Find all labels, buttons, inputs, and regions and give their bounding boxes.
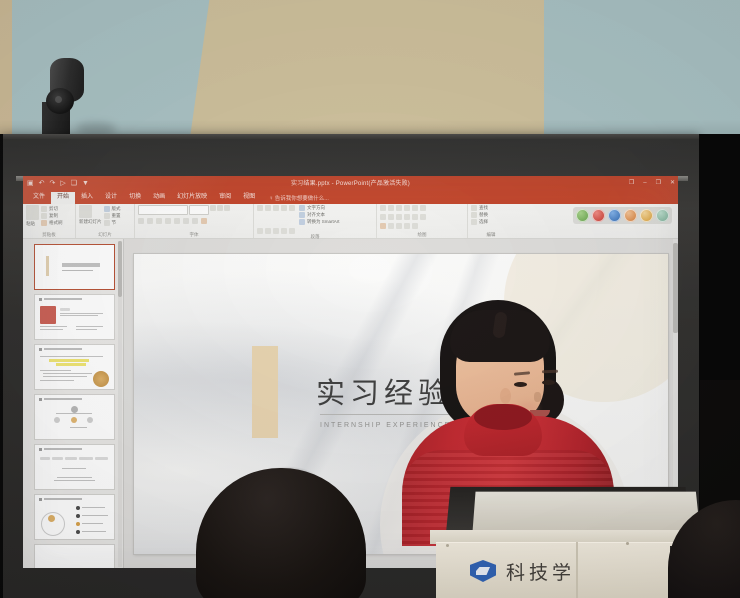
reset-icon[interactable] (104, 213, 110, 219)
addin-toolbar[interactable] (573, 207, 672, 224)
table-row[interactable]: 6 (34, 494, 115, 540)
lectern-screw-right (626, 542, 629, 545)
palette-icon[interactable] (640, 209, 653, 222)
webcam (42, 58, 98, 140)
ribbon-group-editing[interactable]: 查找 替换 选择 编辑 (468, 204, 514, 238)
lectern-sign-text: 科技学 (506, 558, 575, 585)
shape-freeform-icon[interactable] (388, 214, 394, 220)
shape-triangle-icon[interactable] (404, 205, 410, 211)
undo-circle-icon[interactable] (592, 209, 605, 222)
arrange-button[interactable] (404, 223, 410, 229)
accent-bar (252, 346, 278, 438)
strikethrough-button[interactable] (165, 218, 171, 224)
ribbon-tabstrip[interactable]: 文件 开始 插入 设计 切换 动画 幻灯片放映 审阅 视图 ☿ 告诉我你想要做什… (23, 191, 678, 204)
document-title: 实习结果.pptx - PowerPoint(产品激活失败) (23, 178, 678, 187)
tab-animations[interactable]: 动画 (147, 192, 171, 204)
font-family-combo[interactable] (138, 205, 188, 215)
quick-styles-button[interactable] (412, 223, 418, 229)
lectern-panel-seam (576, 542, 578, 598)
thumb-art-org-chart (35, 395, 114, 439)
shape-line-icon[interactable] (388, 205, 394, 211)
align-right-button[interactable] (273, 228, 279, 234)
lectern-screw-left (446, 544, 449, 547)
presenter-eye-left (514, 382, 527, 387)
shape-outline-button[interactable] (388, 223, 394, 229)
slide-thumbnail-pane[interactable]: 1 2 (23, 239, 124, 568)
font-color-button[interactable] (201, 218, 207, 224)
bezel-highlight (2, 134, 699, 139)
group-label-slides: 幻灯片 (79, 232, 131, 238)
copy-icon[interactable] (41, 213, 47, 219)
cut-icon[interactable] (41, 206, 47, 212)
shadow-button[interactable] (174, 218, 180, 224)
ribbon-group-paragraph[interactable]: 文字方向 对齐文本 转换为 SmartArt 段落 (254, 204, 377, 238)
document-copy-icon[interactable] (656, 209, 669, 222)
close-button[interactable]: ✕ (670, 178, 675, 188)
photo-scene: ▣ ↶ ↷ ▷ ❑ ▼ 实习结果.pptx - PowerPoint(产品激活失… (0, 0, 740, 598)
bezel-left-edge (0, 134, 3, 598)
ribbon[interactable]: 粘贴 剪切 复制 格式刷 剪贴板 新建幻灯片 (23, 204, 678, 239)
shape-fill-button[interactable] (380, 223, 386, 229)
shape-more-icon[interactable] (420, 205, 426, 211)
table-row[interactable]: 3 (34, 344, 115, 390)
shape-curve-icon[interactable] (380, 214, 386, 220)
character-spacing-button[interactable] (183, 218, 189, 224)
replace-icon[interactable] (471, 212, 477, 218)
increase-font-size-button[interactable] (210, 205, 216, 211)
tab-slideshow[interactable]: 幻灯片放映 (171, 192, 213, 204)
table-row[interactable]: 2 (34, 294, 115, 340)
camera-lens-icon (46, 88, 74, 114)
table-row[interactable]: 7 (34, 544, 115, 568)
table-row[interactable]: 4 (34, 394, 115, 440)
thumb-art-blank (35, 545, 114, 568)
find-icon[interactable] (471, 205, 477, 211)
tab-home[interactable]: 开始 (51, 192, 75, 204)
powerpoint-titlebar: ▣ ↶ ↷ ▷ ❑ ▼ 实习结果.pptx - PowerPoint(产品激活失… (23, 176, 678, 191)
shape-arrow-icon[interactable] (396, 205, 402, 211)
select-icon[interactable] (471, 219, 477, 225)
change-case-button[interactable] (192, 218, 198, 224)
laptop-screen (472, 492, 700, 535)
tab-insert[interactable]: 插入 (75, 192, 99, 204)
convert-to-smartart-icon[interactable] (299, 219, 305, 225)
bold-button[interactable] (138, 218, 144, 224)
align-center-button[interactable] (265, 228, 271, 234)
window-controls[interactable]: ❐ – ❒ ✕ (629, 178, 675, 188)
thumb-art-title (35, 245, 114, 289)
group-label-editing: 编辑 (471, 232, 511, 238)
align-left-button[interactable] (257, 228, 263, 234)
presenter-nose (534, 392, 541, 402)
presenter-brow-right (542, 370, 558, 374)
numbering-button[interactable] (265, 205, 271, 211)
group-label-drawing: 绘图 (380, 232, 464, 238)
layout-icon[interactable] (104, 206, 110, 212)
presenter-ear (500, 388, 511, 404)
tab-review[interactable]: 审阅 (213, 192, 237, 204)
slide-pane-scrollbar[interactable] (118, 241, 122, 567)
tab-design[interactable]: 设计 (99, 192, 123, 204)
thumb-art-bullets (35, 495, 114, 539)
new-slide-icon[interactable] (79, 205, 92, 218)
line-spacing-button[interactable] (289, 205, 295, 211)
presenter-collar-inner (474, 404, 532, 430)
thumb-art-highlight (35, 345, 114, 389)
ribbon-display-options-icon[interactable]: ❐ (629, 178, 634, 188)
wps-tools-icon[interactable] (576, 209, 589, 222)
brush-icon[interactable] (624, 209, 637, 222)
text-direction-icon[interactable] (299, 205, 305, 211)
lightbulb-icon: ☿ (269, 196, 273, 202)
thumb-art-process (35, 445, 114, 489)
section-icon[interactable] (104, 220, 110, 226)
format-painter-icon[interactable] (41, 220, 47, 226)
presenter-brow-left (514, 371, 530, 375)
ribbon-group-drawing[interactable]: 绘图 (377, 204, 468, 238)
shape-banner-icon[interactable] (420, 214, 426, 220)
shape-star-icon[interactable] (396, 214, 402, 220)
shape-effects-button[interactable] (396, 223, 402, 229)
ribbon-group-clipboard[interactable]: 粘贴 剪切 复制 格式刷 剪贴板 (23, 204, 76, 238)
font-size-combo[interactable] (189, 205, 209, 215)
decrease-indent-button[interactable] (273, 205, 279, 211)
table-row[interactable]: 1 (34, 244, 115, 290)
underline-button[interactable] (156, 218, 162, 224)
group-label-font: 字体 (138, 232, 250, 238)
shape-oval-icon[interactable] (412, 205, 418, 211)
increase-indent-button[interactable] (281, 205, 287, 211)
tell-me-box[interactable]: ☿ 告诉我你想要做什么... (261, 195, 329, 204)
ribbon-group-font[interactable]: 字体 (135, 204, 254, 238)
tab-view[interactable]: 视图 (237, 192, 261, 204)
clear-formatting-button[interactable] (224, 205, 230, 211)
bullets-button[interactable] (257, 205, 263, 211)
decrease-font-size-button[interactable] (217, 205, 223, 211)
hand-pointer-icon[interactable] (608, 209, 621, 222)
ribbon-group-slides[interactable]: 新建幻灯片 版式 重置 节 幻灯片 (76, 204, 135, 238)
align-text-icon[interactable] (299, 212, 305, 218)
minimize-button[interactable]: – (643, 178, 646, 188)
shape-brace-icon[interactable] (412, 214, 418, 220)
shape-rect-icon[interactable] (380, 205, 386, 211)
shape-callout-icon[interactable] (404, 214, 410, 220)
presenter-eye-right (542, 380, 555, 385)
tab-file[interactable]: 文件 (27, 192, 51, 204)
tab-transitions[interactable]: 切换 (123, 192, 147, 204)
maximize-button[interactable]: ❒ (656, 178, 661, 188)
paste-button[interactable] (26, 205, 39, 220)
tell-me-label: 告诉我你想要做什么... (275, 196, 329, 202)
thumb-art-intro (35, 295, 114, 339)
group-label-clipboard: 剪贴板 (26, 232, 72, 238)
table-row[interactable]: 5 (34, 444, 115, 490)
columns-button[interactable] (289, 228, 295, 234)
italic-button[interactable] (147, 218, 153, 224)
justify-button[interactable] (281, 228, 287, 234)
